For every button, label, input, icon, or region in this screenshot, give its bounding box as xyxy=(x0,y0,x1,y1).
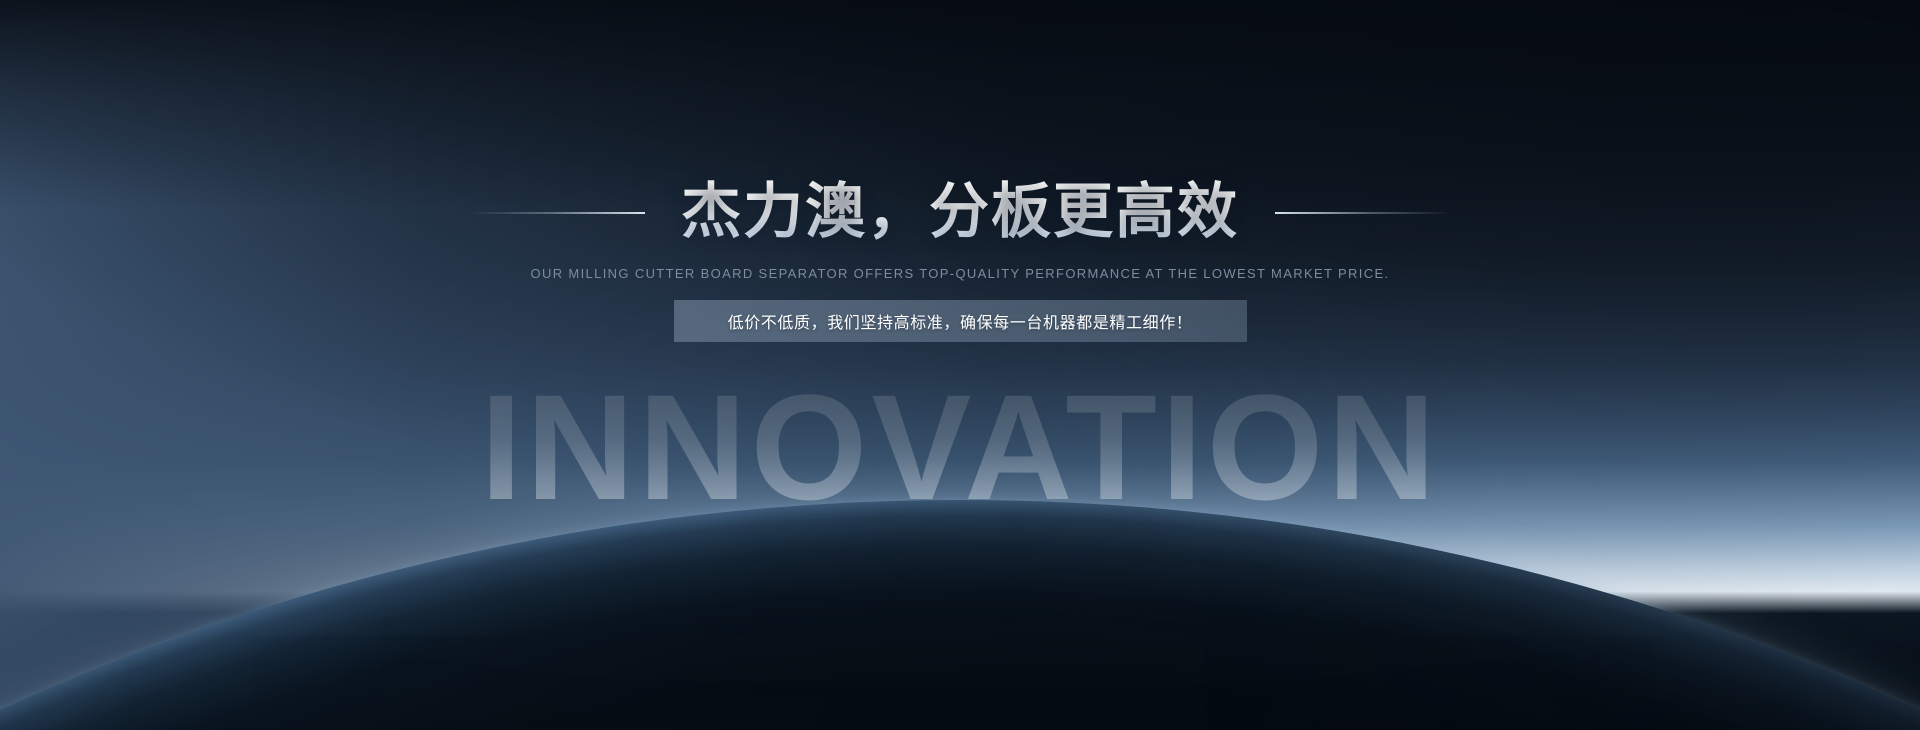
city-lights xyxy=(0,500,1920,730)
divider-line-right xyxy=(1275,212,1447,214)
headline-row: 杰力澳，分板更高效 xyxy=(0,140,1920,285)
earth-horizon xyxy=(0,0,1920,730)
divider-line-left xyxy=(473,212,645,214)
tagline-text: 低价不低质，我们坚持高标准，确保每一台机器都是精工细作！ xyxy=(728,309,1193,333)
ribbon-row: 低价不低质，我们坚持高标准，确保每一台机器都是精工细作！ xyxy=(0,300,1920,342)
subtitle-text: OUR MILLING CUTTER BOARD SEPARATOR OFFER… xyxy=(0,266,1920,281)
page-title: 杰力澳，分板更高效 xyxy=(675,180,1245,245)
tagline-ribbon: 低价不低质，我们坚持高标准，确保每一台机器都是精工细作！ xyxy=(674,300,1247,342)
city-lights-right-fade xyxy=(0,500,1920,730)
hero-banner: INNOVATION 杰力澳，分板更高效 OUR MILLING CUTTER … xyxy=(0,0,1920,730)
